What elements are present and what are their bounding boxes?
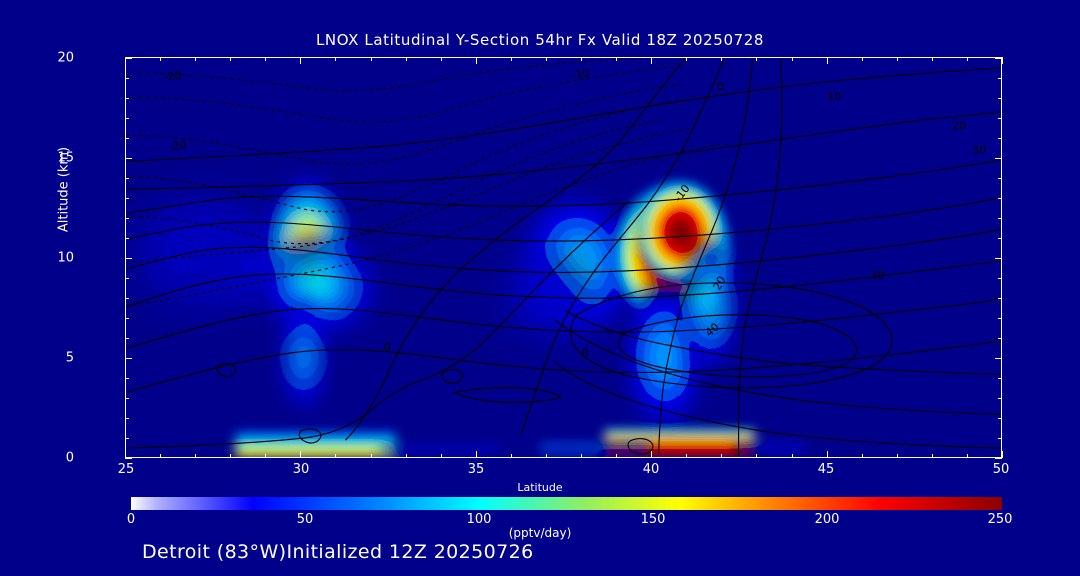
contour-label: 10 xyxy=(827,90,841,103)
contour-overlay: -20 -20 -10 -10 0 0 0 10 20 20 30 30 40 xyxy=(126,58,1001,457)
x-tick-mark-top xyxy=(300,57,301,64)
contour-label: 0 xyxy=(581,347,588,360)
y-minor-tick-right xyxy=(998,138,1002,139)
contour-label: -20 xyxy=(163,69,182,84)
y-minor-tick-right xyxy=(998,218,1002,219)
x-minor-tick-top xyxy=(932,57,933,61)
y-minor-tick-right xyxy=(998,378,1002,379)
x-tick-mark xyxy=(1002,451,1003,458)
figure-canvas: LNOX Latitudinal Y-Section 54hr Fx Valid… xyxy=(0,0,1080,576)
x-minor-tick xyxy=(441,454,442,458)
x-minor-tick xyxy=(967,454,968,458)
colorbar-tick-50: 50 xyxy=(297,512,314,527)
x-tick-40: 40 xyxy=(643,462,660,477)
colorbar-tick-200: 200 xyxy=(815,512,840,527)
y-tick-20: 20 xyxy=(14,51,74,66)
x-tick-mark xyxy=(476,451,477,458)
x-minor-tick-top xyxy=(335,57,336,61)
y-tick-15: 15 xyxy=(14,151,74,166)
contour-label: 30 xyxy=(870,269,884,282)
x-tick-mark-top xyxy=(476,57,477,64)
y-minor-tick xyxy=(125,98,129,99)
x-minor-tick xyxy=(511,454,512,458)
y-tick-mark-right xyxy=(995,358,1002,359)
x-minor-tick xyxy=(897,454,898,458)
y-minor-tick xyxy=(125,418,129,419)
x-minor-tick xyxy=(230,454,231,458)
y-minor-tick xyxy=(125,378,129,379)
x-minor-tick-top xyxy=(546,57,547,61)
colorbar-units-label: (pptv/day) xyxy=(0,526,1080,540)
y-minor-tick-right xyxy=(998,438,1002,439)
x-minor-tick-top xyxy=(862,57,863,61)
y-minor-tick xyxy=(125,338,129,339)
x-tick-30: 30 xyxy=(293,462,310,477)
y-tick-mark-right xyxy=(995,58,1002,59)
y-minor-tick-right xyxy=(998,338,1002,339)
x-minor-tick-top xyxy=(195,57,196,61)
colorbar-gradient xyxy=(131,497,1002,510)
colorbar xyxy=(131,497,1002,510)
y-minor-tick xyxy=(125,198,129,199)
x-tick-mark xyxy=(300,451,301,458)
x-minor-tick xyxy=(546,454,547,458)
y-minor-tick xyxy=(125,118,129,119)
colorbar-tick-250: 250 xyxy=(988,512,1013,527)
y-tick-5: 5 xyxy=(14,351,74,366)
x-minor-tick-top xyxy=(441,57,442,61)
y-minor-tick-right xyxy=(998,278,1002,279)
contour-label: -10 xyxy=(571,67,591,82)
x-minor-tick-top xyxy=(265,57,266,61)
x-minor-tick-top xyxy=(756,57,757,61)
footer-caption: Detroit (83°W)Initialized 12Z 20250726 xyxy=(142,541,534,563)
contour-label: 20 xyxy=(711,274,729,292)
contour-label: 20 xyxy=(952,120,966,133)
x-tick-mark-top xyxy=(125,57,126,64)
y-tick-mark xyxy=(125,258,132,259)
contour-label: 30 xyxy=(972,144,986,157)
y-tick-mark-right xyxy=(995,158,1002,159)
x-minor-tick-top xyxy=(230,57,231,61)
colorbar-tick-100: 100 xyxy=(467,512,492,527)
y-minor-tick-right xyxy=(998,318,1002,319)
y-tick-0: 0 xyxy=(14,451,74,466)
x-minor-tick-top xyxy=(511,57,512,61)
y-minor-tick-right xyxy=(998,118,1002,119)
y-tick-10: 10 xyxy=(14,251,74,266)
x-minor-tick xyxy=(406,454,407,458)
y-axis-label: Altitude (km) xyxy=(57,120,72,260)
plot-inner: -20 -20 -10 -10 0 0 0 10 20 20 30 30 40 xyxy=(126,58,1001,457)
y-minor-tick-right xyxy=(998,98,1002,99)
contour-label: 40 xyxy=(703,320,722,339)
y-minor-tick xyxy=(125,318,129,319)
x-minor-tick xyxy=(195,454,196,458)
y-minor-tick xyxy=(125,178,129,179)
y-minor-tick xyxy=(125,218,129,219)
colorbar-title: Latitude xyxy=(0,481,1080,494)
x-minor-tick-top xyxy=(371,57,372,61)
y-minor-tick xyxy=(125,438,129,439)
x-tick-mark xyxy=(651,451,652,458)
x-minor-tick xyxy=(371,454,372,458)
x-minor-tick-top xyxy=(686,57,687,61)
y-minor-tick xyxy=(125,78,129,79)
x-tick-25: 25 xyxy=(118,462,135,477)
y-minor-tick-right xyxy=(998,398,1002,399)
x-tick-mark xyxy=(125,451,126,458)
y-minor-tick xyxy=(125,298,129,299)
x-minor-tick-top xyxy=(160,57,161,61)
x-tick-mark-top xyxy=(651,57,652,64)
x-tick-45: 45 xyxy=(818,462,835,477)
x-minor-tick-top xyxy=(967,57,968,61)
plot-area: -20 -20 -10 -10 0 0 0 10 20 20 30 30 40 xyxy=(125,57,1002,458)
x-minor-tick-top xyxy=(897,57,898,61)
contour-label: 0 xyxy=(717,80,724,93)
y-minor-tick-right xyxy=(998,418,1002,419)
y-tick-mark xyxy=(125,458,132,459)
x-minor-tick-top xyxy=(721,57,722,61)
x-minor-tick xyxy=(792,454,793,458)
x-minor-tick xyxy=(862,454,863,458)
x-minor-tick-top xyxy=(406,57,407,61)
y-minor-tick xyxy=(125,278,129,279)
y-minor-tick-right xyxy=(998,238,1002,239)
y-minor-tick-right xyxy=(998,298,1002,299)
y-minor-tick-right xyxy=(998,198,1002,199)
contour-label: -10 xyxy=(671,182,692,204)
x-minor-tick-top xyxy=(616,57,617,61)
x-minor-tick xyxy=(160,454,161,458)
y-tick-mark-right xyxy=(995,458,1002,459)
x-minor-tick-top xyxy=(581,57,582,61)
x-minor-tick xyxy=(616,454,617,458)
x-tick-mark xyxy=(827,451,828,458)
y-minor-tick-right xyxy=(998,178,1002,179)
y-minor-tick-right xyxy=(998,78,1002,79)
x-minor-tick xyxy=(581,454,582,458)
chart-title: LNOX Latitudinal Y-Section 54hr Fx Valid… xyxy=(0,31,1080,49)
x-minor-tick xyxy=(756,454,757,458)
x-minor-tick-top xyxy=(792,57,793,61)
y-minor-tick xyxy=(125,398,129,399)
x-tick-35: 35 xyxy=(468,462,485,477)
contour-label: 0 xyxy=(384,341,391,354)
x-tick-mark-top xyxy=(1002,57,1003,64)
y-tick-mark xyxy=(125,58,132,59)
x-minor-tick xyxy=(335,454,336,458)
x-minor-tick xyxy=(932,454,933,458)
colorbar-tick-0: 0 xyxy=(127,512,135,527)
y-tick-mark xyxy=(125,358,132,359)
y-tick-mark xyxy=(125,158,132,159)
x-tick-mark-top xyxy=(827,57,828,64)
x-tick-50: 50 xyxy=(993,462,1010,477)
x-minor-tick xyxy=(721,454,722,458)
x-minor-tick xyxy=(686,454,687,458)
y-minor-tick xyxy=(125,238,129,239)
y-tick-mark-right xyxy=(995,258,1002,259)
colorbar-tick-150: 150 xyxy=(641,512,666,527)
y-minor-tick xyxy=(125,138,129,139)
x-minor-tick xyxy=(265,454,266,458)
contour-label: -20 xyxy=(168,139,187,154)
